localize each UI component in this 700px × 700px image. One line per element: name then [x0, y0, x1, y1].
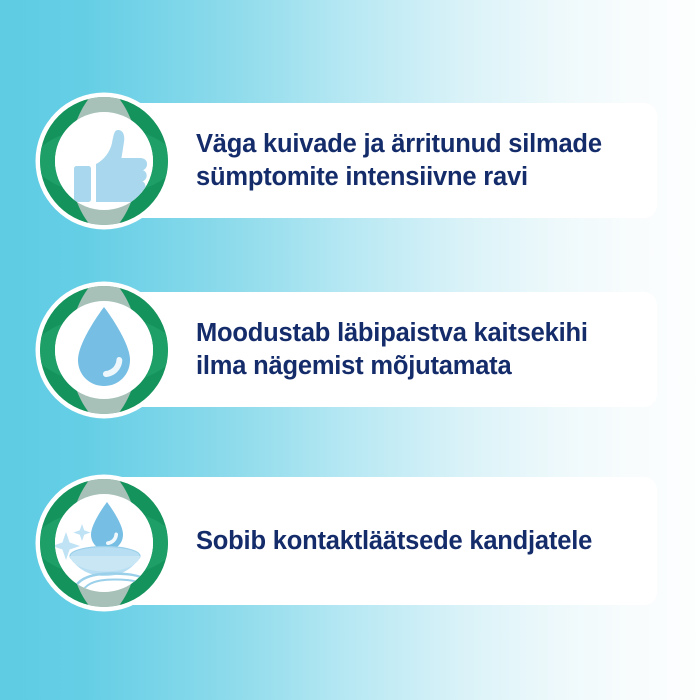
- benefits-poster: Väga kuivade ja ärritunud silmade sümpto…: [0, 0, 700, 700]
- benefit-badge: [34, 472, 174, 614]
- benefit-card: Sobib kontaktläätsede kandjatele: [104, 477, 657, 605]
- benefit-card: Väga kuivade ja ärritunud silmade sümpto…: [104, 103, 657, 218]
- benefit-text-line: Väga kuivade ja ärritunud silmade: [196, 128, 641, 161]
- benefit-text-line: Moodustab läbipaistva kaitsekihi: [196, 317, 641, 350]
- benefit-row: Väga kuivade ja ärritunud silmade sümpto…: [0, 90, 700, 232]
- benefit-badge: [34, 90, 174, 232]
- benefit-text: Sobib kontaktläätsede kandjatele: [196, 477, 641, 605]
- benefit-card: Moodustab läbipaistva kaitsekihi ilma nä…: [104, 292, 657, 407]
- benefit-row: Moodustab läbipaistva kaitsekihi ilma nä…: [0, 279, 700, 421]
- benefit-text: Moodustab läbipaistva kaitsekihi ilma nä…: [196, 292, 641, 407]
- benefit-text-line: Sobib kontaktläätsede kandjatele: [196, 525, 641, 558]
- benefit-row: Sobib kontaktläätsede kandjatele: [0, 466, 700, 608]
- benefit-text: Väga kuivade ja ärritunud silmade sümpto…: [196, 103, 641, 218]
- benefit-badge: [34, 279, 174, 421]
- benefit-text-line: ilma nägemist mõjutamata: [196, 350, 641, 383]
- benefit-text-line: sümptomite intensiivne ravi: [196, 161, 641, 194]
